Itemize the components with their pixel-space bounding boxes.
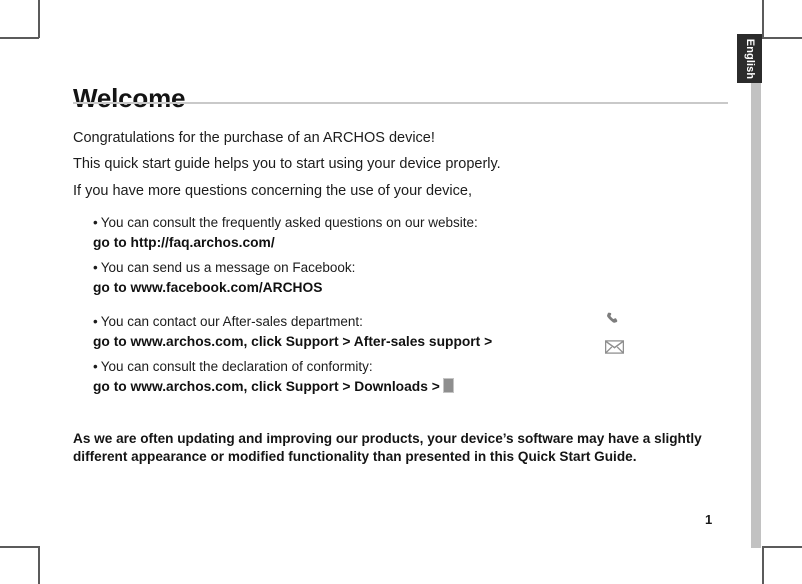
envelope-icon: [605, 340, 637, 359]
page-content: Welcome Congratulations for the purchase…: [73, 0, 728, 584]
bullet-description: You can consult the frequently asked que…: [101, 215, 478, 230]
bullet-description: You can contact our After-sales departme…: [101, 314, 363, 329]
intro-line-3: If you have more questions concerning th…: [73, 179, 723, 203]
intro-line-2: This quick start guide helps you to star…: [73, 152, 723, 176]
crop-mark-bottom-left-vertical: [38, 546, 40, 584]
language-tab-english[interactable]: English: [737, 34, 762, 83]
bullet-action-link-facebook[interactable]: go to www.facebook.com/ARCHOS: [93, 278, 723, 299]
bullet-action-label: go to www.facebook.com/ARCHOS: [93, 280, 322, 295]
support-options-list: •You can consult the frequently asked qu…: [93, 213, 723, 404]
language-tab-label: English: [744, 38, 756, 78]
bullet-description: You can send us a message on Facebook:: [101, 260, 356, 275]
bullet-action-label: go to www.archos.com, click Support > Af…: [93, 334, 492, 349]
bullet-text-row: •You can send us a message on Facebook:: [93, 258, 723, 278]
page-number: 1: [705, 512, 712, 527]
intro-line-1: Congratulations for the purchase of an A…: [73, 126, 723, 150]
bullet-text-row: •You can consult the frequently asked qu…: [93, 213, 723, 233]
crop-mark-top-right-horizontal: [762, 37, 802, 39]
phone-icon: [605, 311, 637, 332]
bullet-dot-icon: •: [93, 260, 98, 275]
intro-paragraph-block: Congratulations for the purchase of an A…: [73, 126, 723, 205]
list-item: •You can consult the declaration of conf…: [93, 357, 723, 400]
disclaimer-note: As we are often updating and improving o…: [73, 430, 728, 467]
crop-mark-bottom-right-horizontal: [762, 546, 802, 548]
bullet-dot-icon: •: [93, 314, 98, 329]
list-item: •You can send us a message on Facebook: …: [93, 258, 723, 299]
bullet-action-link-faq[interactable]: go to http://faq.archos.com/: [93, 233, 723, 254]
crop-mark-bottom-left-horizontal: [0, 546, 39, 548]
crop-mark-top-right-vertical: [762, 0, 764, 38]
title-divider: [73, 102, 728, 104]
bullet-text-row: •You can consult the declaration of conf…: [93, 357, 723, 377]
page-gutter-bar: [751, 35, 761, 548]
page-title: Welcome: [73, 85, 185, 111]
crop-mark-top-left-vertical: [38, 0, 40, 38]
bullet-action-link-downloads[interactable]: go to www.archos.com, click Support > Do…: [93, 377, 723, 400]
crop-mark-top-left-horizontal: [0, 37, 39, 39]
bullet-dot-icon: •: [93, 359, 98, 374]
crop-mark-bottom-right-vertical: [762, 546, 764, 584]
bullet-dot-icon: •: [93, 215, 98, 230]
bullet-action-label: go to http://faq.archos.com/: [93, 235, 275, 250]
bullet-action-label: go to www.archos.com, click Support > Do…: [93, 379, 440, 394]
document-icon: [443, 378, 454, 400]
contact-icons-group: [605, 311, 637, 359]
bullet-description: You can consult the declaration of confo…: [101, 359, 373, 374]
list-item: •You can consult the frequently asked qu…: [93, 213, 723, 254]
